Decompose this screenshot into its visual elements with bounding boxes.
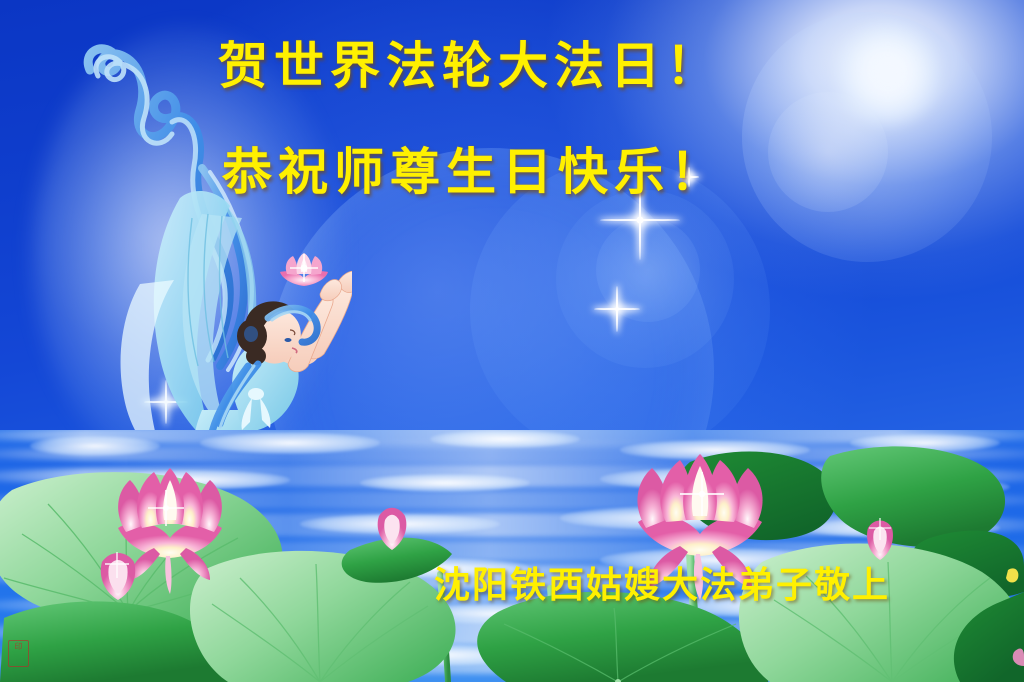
signature-text: 沈阳铁西姑嫂大法弟子敬上 bbox=[434, 556, 890, 608]
lens-flare-orb bbox=[470, 160, 770, 460]
headline-line-1: 贺世界法轮大法日！ bbox=[218, 26, 722, 98]
lens-flare-orb bbox=[556, 190, 734, 368]
red-seal-stamp: 印 bbox=[8, 640, 29, 667]
star-sparkle bbox=[594, 286, 640, 332]
headline-line-2: 恭祝师尊生日快乐！ bbox=[222, 132, 726, 204]
greeting-card: 贺世界法轮大法日！ 恭祝师尊生日快乐！ 沈阳铁西姑嫂大法弟子敬上 印 bbox=[0, 0, 1024, 682]
sun-glow bbox=[836, 22, 940, 126]
lens-flare-orb bbox=[596, 218, 700, 322]
